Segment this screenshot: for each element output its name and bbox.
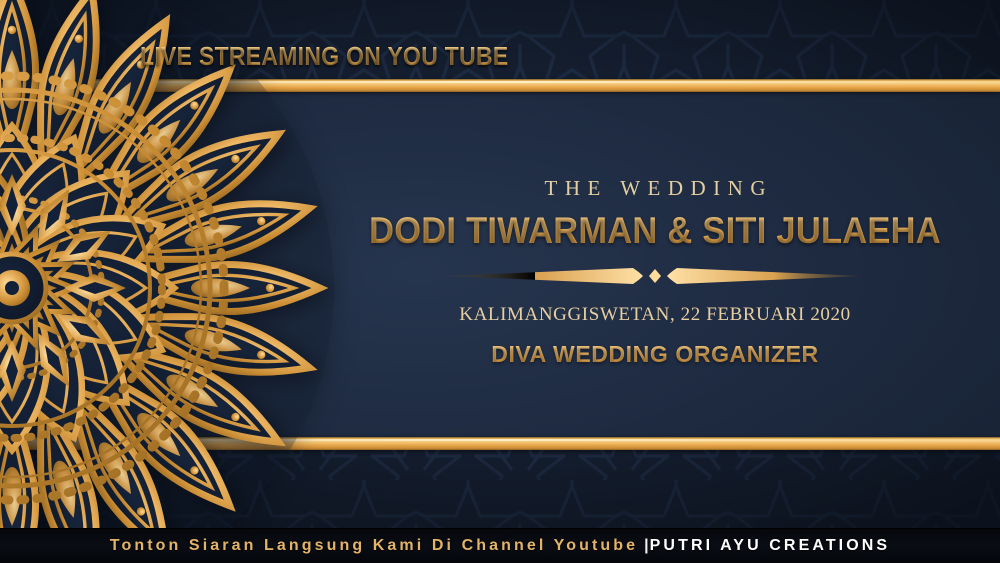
ticker-brand-text: PUTRI AYU CREATIONS xyxy=(650,537,891,555)
invitation-content: THE WEDDING DODI TIWARMAN & SITI JULAEHA xyxy=(340,176,970,368)
couple-names: DODI TIWARMAN & SITI JULAEHA xyxy=(362,210,948,252)
wedding-organizer-name: DIVA WEDDING ORGANIZER xyxy=(340,341,970,368)
venue-and-date: KALIMANGGISWETAN, 22 FEBRUARI 2020 xyxy=(340,304,970,326)
gold-bar-bottom-icon xyxy=(0,437,1000,450)
spear-divider-icon xyxy=(445,263,865,289)
wedding-invitation-banner: LIVE STREAMING ON YOU TUBE THE WEDDING D… xyxy=(0,0,1000,563)
eyebrow-the-wedding: THE WEDDING xyxy=(340,176,970,201)
ticker-gold-text: Tonton Siaran Langsung Kami Di Channel Y… xyxy=(110,537,638,555)
live-streaming-headline: LIVE STREAMING ON YOU TUBE xyxy=(140,41,508,72)
bottom-ticker-bar: Tonton Siaran Langsung Kami Di Channel Y… xyxy=(0,528,1000,563)
gold-bar-top-icon xyxy=(0,79,1000,92)
ticker-separator: | xyxy=(638,537,649,555)
